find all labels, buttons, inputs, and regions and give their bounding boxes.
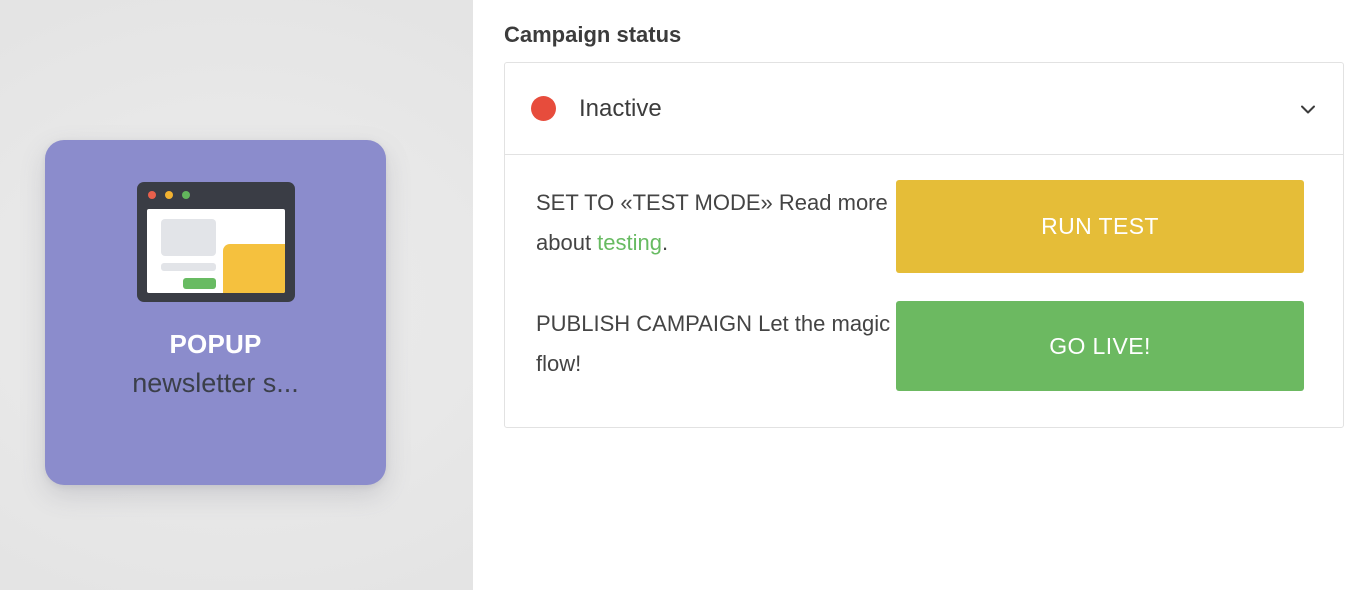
testing-link[interactable]: testing — [597, 230, 662, 255]
campaign-status-screen: POPUP newsletter s... Campaign status In… — [0, 0, 1368, 590]
template-preview-panel: POPUP newsletter s... — [0, 0, 473, 590]
template-card-title: POPUP — [169, 330, 261, 359]
placeholder-text-line — [161, 263, 216, 271]
publish-description: PUBLISH CAMPAIGN Let the magic flow! — [536, 301, 896, 384]
browser-traffic-lights — [148, 191, 190, 199]
go-live-button[interactable]: GO LIVE! — [896, 301, 1304, 391]
publish-heading: PUBLISH CAMPAIGN Let — [536, 311, 789, 336]
placeholder-image-block — [161, 219, 216, 256]
traffic-light-yellow-icon — [165, 191, 173, 199]
campaign-status-panel: Campaign status Inactive SET TO «TEST MO… — [473, 0, 1368, 590]
test-mode-body-suffix: . — [662, 230, 668, 255]
test-mode-description: SET TO «TEST MODE» Read more about testi… — [536, 180, 896, 263]
campaign-actions: SET TO «TEST MODE» Read more about testi… — [505, 155, 1343, 427]
campaign-status-dropdown[interactable]: Inactive — [505, 63, 1343, 155]
browser-content-area — [147, 209, 285, 293]
popup-template-card[interactable]: POPUP newsletter s... — [45, 140, 386, 485]
status-dot-icon — [531, 96, 556, 121]
template-card-subtitle: newsletter s... — [132, 369, 299, 399]
page-title: Campaign status — [504, 22, 1344, 48]
status-card: Inactive SET TO «TEST MODE» Read more ab… — [504, 62, 1344, 428]
traffic-light-green-icon — [182, 191, 190, 199]
test-mode-row: SET TO «TEST MODE» Read more about testi… — [505, 155, 1343, 273]
speech-bubble-icon — [223, 244, 285, 293]
publish-campaign-row: PUBLISH CAMPAIGN Let the magic flow! GO … — [505, 273, 1343, 427]
traffic-light-red-icon — [148, 191, 156, 199]
chevron-down-icon[interactable] — [1297, 98, 1319, 120]
placeholder-cta-button — [183, 278, 216, 289]
browser-popup-illustration — [137, 182, 295, 302]
status-value-label: Inactive — [579, 95, 1297, 123]
run-test-button[interactable]: RUN TEST — [896, 180, 1304, 273]
test-mode-heading: SET TO «TEST MODE» — [536, 190, 773, 215]
